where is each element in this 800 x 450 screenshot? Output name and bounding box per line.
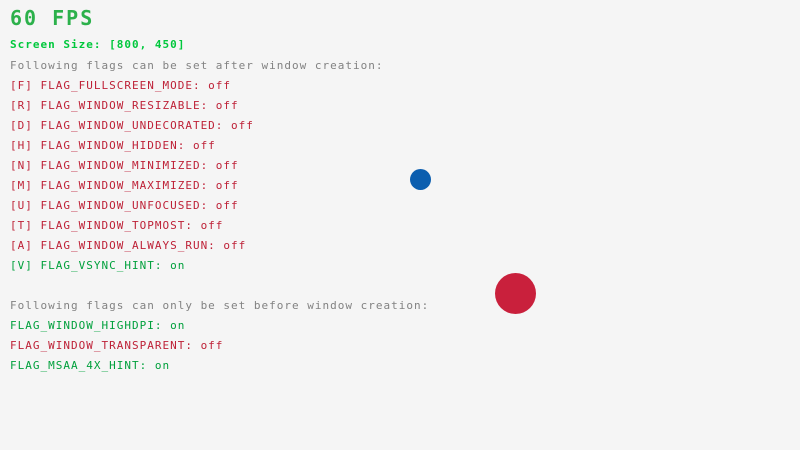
flag-row-flag-window-minimized[interactable]: [N] FLAG_WINDOW_MINIMIZED: off	[10, 160, 239, 171]
flag-row-flag-window-highdpi[interactable]: FLAG_WINDOW_HIGHDPI: on	[10, 320, 185, 331]
flag-row-flag-fullscreen-mode[interactable]: [F] FLAG_FULLSCREEN_MODE: off	[10, 80, 231, 91]
screen-size-label: Screen Size: [800, 450]	[10, 39, 185, 50]
fps-counter: 60 FPS	[10, 8, 94, 28]
before-creation-section-header: Following flags can only be set before w…	[10, 300, 429, 311]
flag-row-flag-window-unfocused[interactable]: [U] FLAG_WINDOW_UNFOCUSED: off	[10, 200, 239, 211]
bouncing-ball-red	[495, 273, 536, 314]
after-creation-section-header: Following flags can be set after window …	[10, 60, 384, 71]
flag-row-flag-window-maximized[interactable]: [M] FLAG_WINDOW_MAXIMIZED: off	[10, 180, 239, 191]
flag-row-flag-window-transparent[interactable]: FLAG_WINDOW_TRANSPARENT: off	[10, 340, 223, 351]
bouncing-ball-blue	[410, 169, 431, 190]
flag-row-flag-window-undecorated[interactable]: [D] FLAG_WINDOW_UNDECORATED: off	[10, 120, 254, 131]
flag-row-flag-window-topmost[interactable]: [T] FLAG_WINDOW_TOPMOST: off	[10, 220, 223, 231]
flag-row-flag-window-always-run[interactable]: [A] FLAG_WINDOW_ALWAYS_RUN: off	[10, 240, 246, 251]
raylib-window-canvas: 60 FPS Screen Size: [800, 450] Following…	[0, 0, 800, 450]
flag-row-flag-window-hidden[interactable]: [H] FLAG_WINDOW_HIDDEN: off	[10, 140, 216, 151]
flag-row-flag-vsync-hint[interactable]: [V] FLAG_VSYNC_HINT: on	[10, 260, 185, 271]
flag-row-flag-window-resizable[interactable]: [R] FLAG_WINDOW_RESIZABLE: off	[10, 100, 239, 111]
flag-row-flag-msaa-4x-hint[interactable]: FLAG_MSAA_4X_HINT: on	[10, 360, 170, 371]
